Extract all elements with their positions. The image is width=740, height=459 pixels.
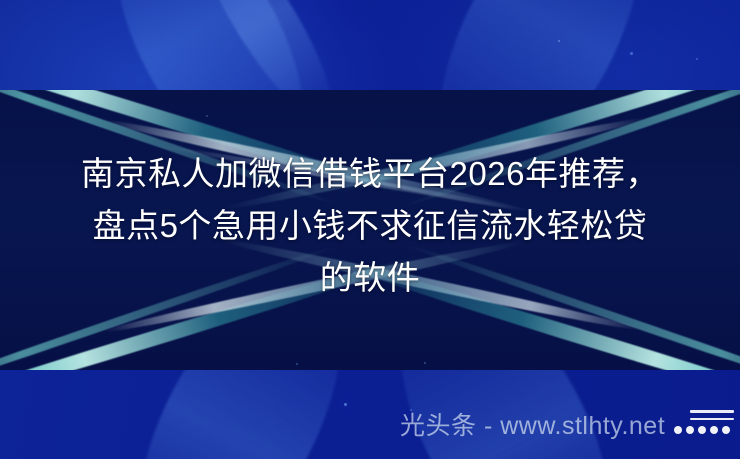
top-blue-ray-1 bbox=[78, 0, 342, 90]
watermark-text: 光头条 - www.stlhty.net bbox=[400, 410, 665, 442]
top-left-glow bbox=[0, 0, 400, 90]
poster-canvas: 南京私人加微信借钱平台2026年推荐， 盘点5个急用小钱不求征信流水轻松贷 的软… bbox=[0, 0, 740, 459]
top-band bbox=[0, 0, 740, 90]
top-blue-ray-3 bbox=[399, 0, 682, 90]
bottom-blue-ray-1 bbox=[99, 370, 382, 459]
top-right-glow bbox=[340, 0, 740, 90]
headline-text: 南京私人加微信借钱平台2026年推荐， 盘点5个急用小钱不求征信流水轻松贷 的软… bbox=[0, 148, 740, 304]
top-blue-ray-2 bbox=[179, 0, 352, 90]
